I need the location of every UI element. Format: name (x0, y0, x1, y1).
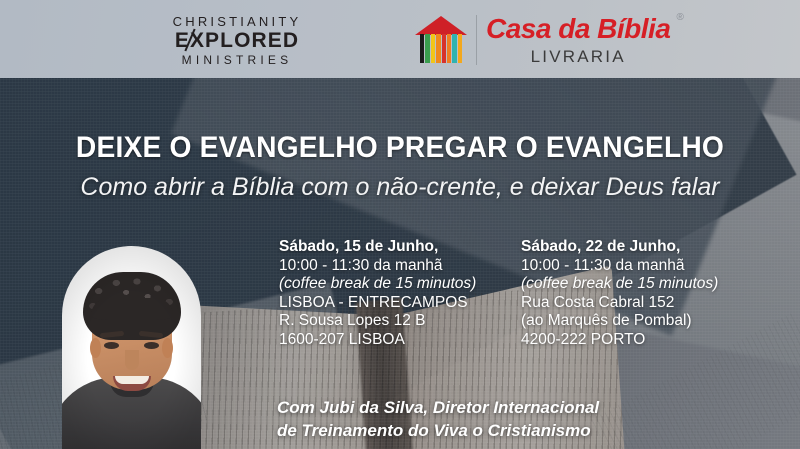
speaker-credit-line-1: Com Jubi da Silva, Diretor Internacional (277, 396, 599, 419)
casa-da-biblia-subtitle: LIVRARIA (486, 48, 670, 65)
event-venue: Rua Costa Cabral 152 (521, 294, 718, 313)
header-band: CHRISTIANITY EXPLORED MINISTRIES Casa da… (0, 0, 800, 78)
book-spine-3 (431, 34, 435, 63)
event-postal: 1600-207 LISBOA (279, 331, 476, 350)
event-column-lisboa: Sábado, 15 de Junho, 10:00 - 11:30 da ma… (279, 238, 476, 349)
event-note: (coffee break de 15 minutos) (279, 275, 476, 294)
book-spine-6 (447, 34, 451, 63)
book-spine-4 (436, 34, 440, 63)
event-date: Sábado, 22 de Junho, (521, 238, 718, 257)
casa-da-biblia-name: Casa da Bíblia® (486, 15, 670, 43)
speaker-credit-line-2: de Treinamento do Viva o Cristianismo (277, 419, 599, 442)
poster-canvas: CHRISTIANITY EXPLORED MINISTRIES Casa da… (0, 0, 800, 449)
page-title: DEIXE O EVANGELHO PREGAR O EVANGELHO (24, 131, 776, 165)
house-roof-shape (415, 16, 467, 35)
logo-line-explored: EXPLORED (167, 30, 307, 52)
book-spine-1 (420, 34, 424, 63)
casa-da-biblia-wordmark: Casa da Bíblia® LIVRARIA (486, 15, 670, 65)
event-street: (ao Marquês de Pombal) (521, 312, 718, 331)
page-subtitle: Como abrir a Bíblia com o não-crente, e … (0, 173, 800, 202)
book-spine-8 (458, 34, 462, 63)
book-spine-5 (442, 34, 446, 63)
event-note: (coffee break de 15 minutos) (521, 275, 718, 294)
house-books-icon (415, 16, 467, 64)
portrait-illustration (62, 246, 201, 449)
speaker-portrait (62, 246, 201, 449)
event-column-porto: Sábado, 22 de Junho, 10:00 - 11:30 da ma… (521, 238, 718, 349)
event-date: Sábado, 15 de Junho, (279, 238, 476, 257)
portrait-vignette (62, 246, 201, 449)
book-spine-2 (425, 34, 429, 63)
event-postal: 4200-222 PORTO (521, 331, 718, 350)
event-time: 10:00 - 11:30 da manhã (521, 257, 718, 276)
house-bookshelf (420, 34, 462, 63)
casa-da-biblia-logo: Casa da Bíblia® LIVRARIA (415, 12, 670, 68)
casa-da-biblia-name-text: Casa da Bíblia (486, 13, 670, 44)
speaker-credit: Com Jubi da Silva, Diretor Internacional… (277, 396, 599, 442)
logo-line-christianity: CHRISTIANITY (167, 14, 307, 30)
registered-trademark-icon: ® (677, 13, 684, 23)
logo-explored-x-slash: X (190, 30, 205, 52)
book-spine-7 (452, 34, 456, 63)
logo-explored-plored: PLORED (205, 29, 299, 52)
logo-divider (476, 15, 477, 65)
event-venue: LISBOA - ENTRECAMPOS (279, 294, 476, 313)
event-street: R. Sousa Lopes 12 B (279, 312, 476, 331)
logo-line-ministries: MINISTRIES (167, 52, 307, 68)
christianity-explored-logo: CHRISTIANITY EXPLORED MINISTRIES (167, 14, 307, 66)
event-time: 10:00 - 11:30 da manhã (279, 257, 476, 276)
